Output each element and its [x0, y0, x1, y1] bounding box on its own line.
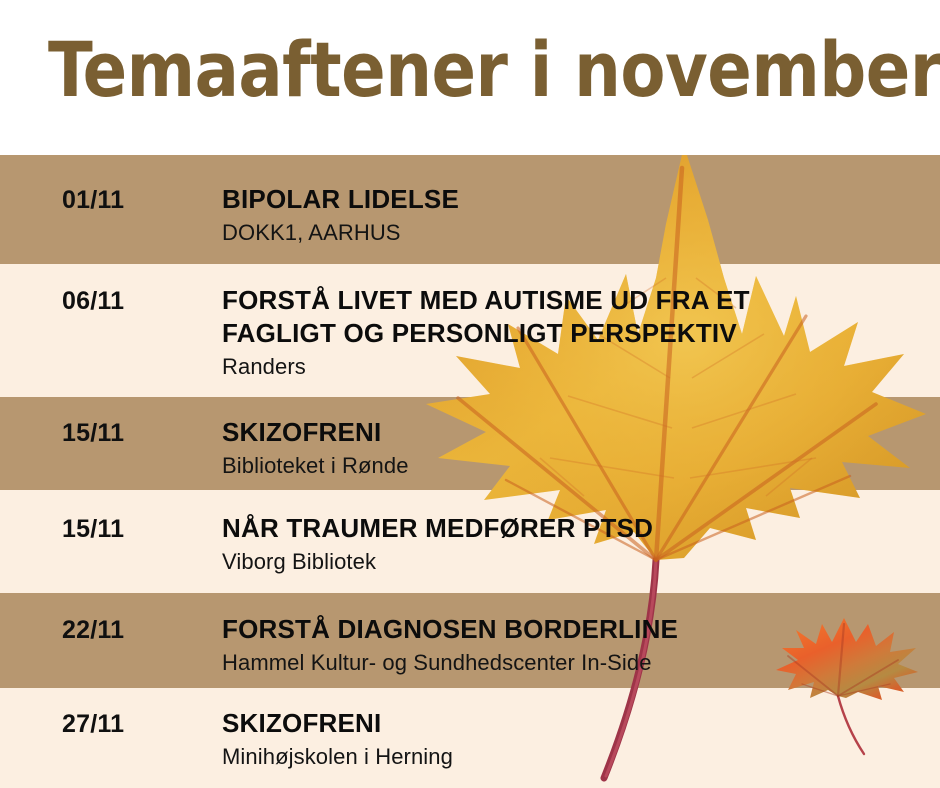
poster-canvas: Temaaftener i november 01/11 BIPOLAR LID…	[0, 0, 940, 788]
event-date: 01/11	[62, 186, 124, 215]
event-date: 15/11	[62, 515, 124, 544]
event-venue: Viborg Bibliotek	[222, 547, 922, 576]
event-venue: Biblioteket i Rønde	[222, 451, 922, 480]
header-band: Temaaftener i november	[0, 0, 940, 155]
event-venue: Randers	[222, 352, 862, 381]
event-date: 22/11	[62, 616, 124, 645]
event-row: 27/11 SKIZOFRENI Minihøjskolen i Herning	[0, 688, 940, 788]
event-date: 15/11	[62, 419, 124, 448]
event-date: 27/11	[62, 710, 124, 739]
event-body: NÅR TRAUMER MEDFØRER PTSD Viborg Bibliot…	[222, 512, 922, 576]
event-venue: Minihøjskolen i Herning	[222, 742, 922, 771]
event-title: FORSTÅ DIAGNOSEN BORDERLINE	[222, 613, 922, 646]
event-row: 15/11 SKIZOFRENI Biblioteket i Rønde	[0, 397, 940, 490]
event-row: 22/11 FORSTÅ DIAGNOSEN BORDERLINE Hammel…	[0, 593, 940, 688]
event-row: 06/11 FORSTÅ LIVET MED AUTISME UD FRA ET…	[0, 264, 940, 397]
event-venue: Hammel Kultur- og Sundhedscenter In-Side	[222, 648, 922, 677]
page-title: Temaaftener i november	[48, 28, 940, 112]
event-venue: DOKK1, AARHUS	[222, 218, 922, 247]
event-body: SKIZOFRENI Biblioteket i Rønde	[222, 416, 922, 480]
event-title: FORSTÅ LIVET MED AUTISME UD FRA ET FAGLI…	[222, 284, 862, 350]
event-title: BIPOLAR LIDELSE	[222, 183, 922, 216]
event-body: FORSTÅ LIVET MED AUTISME UD FRA ET FAGLI…	[222, 284, 862, 381]
event-body: FORSTÅ DIAGNOSEN BORDERLINE Hammel Kultu…	[222, 613, 922, 677]
event-row: 15/11 NÅR TRAUMER MEDFØRER PTSD Viborg B…	[0, 490, 940, 593]
event-body: BIPOLAR LIDELSE DOKK1, AARHUS	[222, 183, 922, 247]
event-title: NÅR TRAUMER MEDFØRER PTSD	[222, 512, 922, 545]
event-title: SKIZOFRENI	[222, 707, 922, 740]
event-title: SKIZOFRENI	[222, 416, 922, 449]
event-body: SKIZOFRENI Minihøjskolen i Herning	[222, 707, 922, 771]
event-row: 01/11 BIPOLAR LIDELSE DOKK1, AARHUS	[0, 155, 940, 264]
event-date: 06/11	[62, 287, 124, 316]
